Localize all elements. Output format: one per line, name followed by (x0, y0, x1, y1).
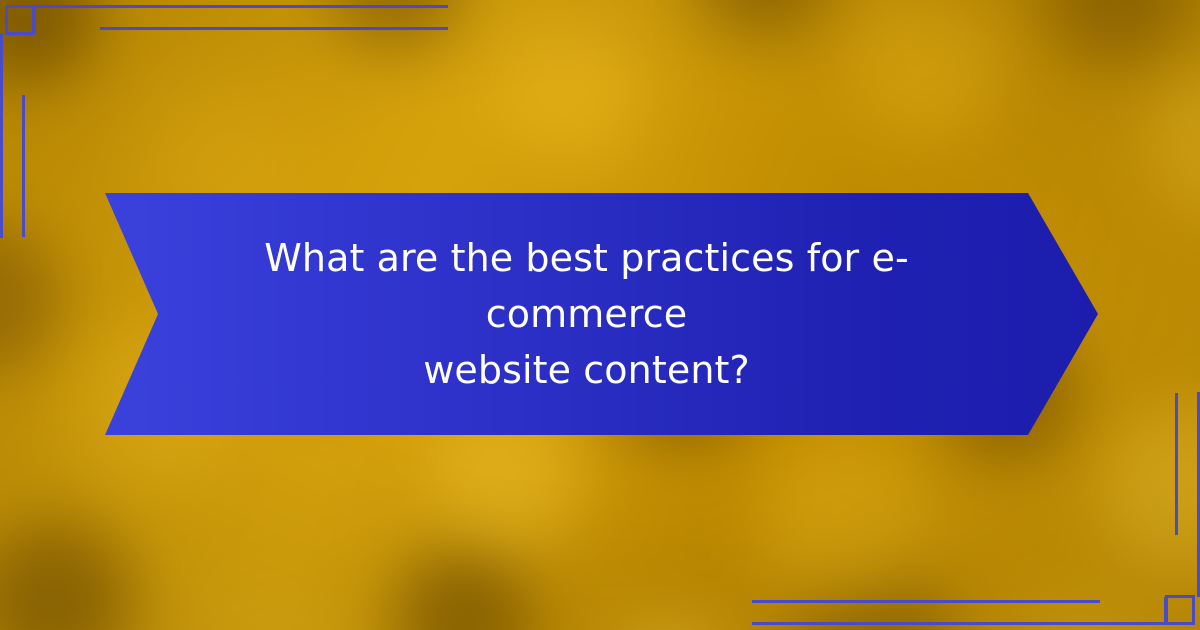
inner-horizontal-line (752, 600, 1100, 603)
question-text: What are the best practices for e-commer… (207, 230, 997, 398)
inner-vertical-line (22, 95, 25, 237)
question-ribbon: What are the best practices for e-commer… (105, 193, 1098, 435)
outer-vertical-stub (1164, 597, 1167, 625)
corner-square-icon (5, 5, 35, 35)
corner-square-icon (1165, 595, 1195, 625)
outer-vertical-stub (33, 5, 36, 33)
inner-horizontal-line (100, 27, 448, 30)
outer-horizontal-line (33, 5, 448, 8)
banner-card: What are the best practices for e-commer… (0, 0, 1200, 630)
outer-horizontal-line (752, 622, 1167, 625)
inner-vertical-line (1175, 393, 1178, 535)
outer-vertical-line (0, 33, 3, 238)
